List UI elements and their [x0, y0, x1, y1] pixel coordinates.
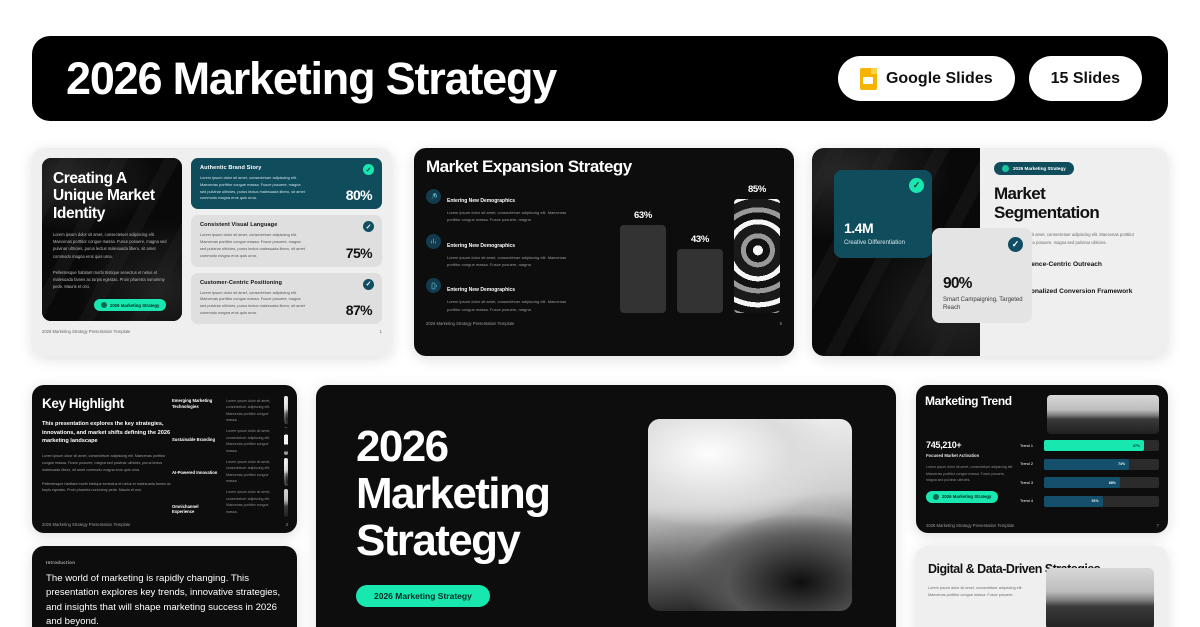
slide8-paragraph: Lorem ipsum dolor sit amet, consectetuer…: [928, 585, 1040, 599]
slide-card-marketing-trend[interactable]: Marketing Trend 745,210+ Focused Market …: [916, 385, 1168, 533]
slide7-kicker: Introduction: [46, 560, 283, 565]
slide2-feature-item: Entering New Demographics Lorem ipsum do…: [426, 234, 578, 268]
slide1-paragraph-1: Lorem ipsum dolor sit amet, consectetuer…: [53, 231, 171, 260]
row-body: Lorem ipsum dolor sit amet, consectetuer…: [200, 175, 307, 202]
check-icon: ✓: [363, 221, 374, 232]
row-title: Customer-Centric Positioning: [200, 280, 373, 286]
row-body: Lorem ipsum dolor sit amet, consectetuer…: [226, 428, 278, 454]
slide2-feature-list: Entering New Demographics Lorem ipsum do…: [426, 187, 578, 313]
trend-track: 87%: [1044, 440, 1159, 451]
slide6-badge: 2026 Marketing Strategy: [926, 491, 998, 503]
slide3-badge: 2026 Marketing Strategy: [994, 162, 1074, 175]
trend-label: Trend 3: [1020, 481, 1039, 485]
slide1-row: Authentic Brand Story Lorem ipsum dolor …: [191, 158, 382, 209]
row-body: Lorem ipsum dolor sit amet, consectetuer…: [226, 398, 278, 424]
wave-gradient-texture: [648, 419, 852, 611]
trend-row: Trend 1 87%: [1020, 440, 1159, 451]
page-number: 3: [286, 522, 288, 527]
trend-track: 74%: [1044, 459, 1159, 470]
footer-text: 2026 Marketing Strategy Presentation Tem…: [426, 321, 514, 326]
feature-title: Entering New Demographics: [447, 287, 515, 293]
row-title: Emerging Marketing Technologies: [172, 398, 220, 409]
slide7-text: The world of marketing is rapidly changi…: [46, 572, 283, 627]
row-title: Consistent Visual Language: [200, 222, 373, 228]
check-icon: ✓: [909, 178, 924, 193]
slide5-hero-image: [648, 419, 852, 611]
slide3-title: Market Segmentation: [994, 184, 1154, 222]
row-title: Authentic Brand Story: [200, 165, 373, 171]
thumbnail-image: [284, 427, 288, 455]
slide6-trend-chart: Trend 1 87% Trend 2 74% Trend 3 66%: [1020, 440, 1159, 514]
bar-value-label: 85%: [748, 184, 766, 195]
slide-card-introduction[interactable]: Introduction The world of marketing is r…: [32, 546, 297, 627]
bar-value-label: 63%: [634, 210, 652, 221]
trend-track: 51%: [1044, 496, 1159, 507]
google-slides-label: Google Slides: [886, 70, 993, 88]
trend-label: Trend 2: [1020, 462, 1039, 466]
check-icon: ✓: [363, 279, 374, 290]
slide3-badge-label: 2026 Marketing Strategy: [1013, 166, 1066, 171]
slide-count-button[interactable]: 15 Slides: [1029, 56, 1142, 101]
slide6-footer: 2026 Marketing Strategy Presentation Tem…: [926, 523, 1159, 528]
slide-count-label: 15 Slides: [1051, 70, 1120, 88]
check-icon: ✓: [363, 164, 374, 175]
badge-dot-icon: [933, 494, 939, 500]
slide-card-digital-data-driven-strategies[interactable]: Digital & Data-Driven Strategies Lorem i…: [916, 546, 1168, 627]
slide1-badge-label: 2026 Marketing Strategy: [110, 303, 159, 308]
mountain-photo-texture: [1046, 568, 1154, 627]
row-percent: 75%: [346, 245, 372, 261]
stat-label: Focused Market Activation: [926, 453, 1014, 458]
trend-row: Trend 4 51%: [1020, 496, 1159, 507]
trend-label: Trend 1: [1020, 444, 1039, 448]
slide3-stat-tile-gray: ✓ 90% Smart Campaigning, Targeted Reach: [932, 228, 1032, 323]
row-title: Sustainable Branding: [172, 437, 220, 443]
feature-body: Lorem ipsum dolor sit amet, consectetuer…: [447, 298, 578, 312]
list-text: Personalized Conversion Framework: [1017, 288, 1133, 297]
chart-bar-group: 63%: [620, 210, 666, 313]
slide-card-key-highlight[interactable]: Key Highlight This presentation explores…: [32, 385, 297, 533]
row-body: Lorem ipsum dolor sit amet, consectetuer…: [226, 459, 278, 485]
slide4-lead: This presentation explores the key strat…: [42, 420, 177, 446]
feature-body: Lorem ipsum dolor sit amet, consectetuer…: [447, 209, 578, 223]
rocket-icon: [426, 189, 441, 204]
row-body: Lorem ipsum dolor sit amet, consectetuer…: [200, 232, 307, 259]
slide4-body-column: Lorem ipsum dolor sit amet, consectetuer…: [226, 396, 278, 517]
slide4-footer: 2026 Marketing Strategy Presentation Tem…: [42, 522, 288, 527]
trend-fill: 51%: [1044, 496, 1103, 507]
page-number: 1: [380, 329, 382, 334]
chart-bar: [620, 225, 666, 313]
slide4-thumbnail-column: [284, 396, 288, 517]
thumbnail-image: [284, 489, 288, 517]
footer-text: 2026 Marketing Strategy Presentation Tem…: [926, 523, 1014, 528]
feature-title: Entering New Demographics: [447, 243, 515, 249]
slide2-feature-item: Entering New Demographics Lorem ipsum do…: [426, 278, 578, 312]
footer-text: 2026 Marketing Strategy Presentation Tem…: [42, 329, 130, 334]
slide-card-creating-unique-market-identity[interactable]: Creating A Unique Market Identity Lorem …: [32, 148, 392, 356]
slide1-badge: 2026 Marketing Strategy: [94, 299, 166, 311]
mountain-photo-texture: [1047, 395, 1159, 434]
row-body: Lorem ipsum dolor sit amet, consectetuer…: [226, 489, 278, 515]
row-title: AI-Powered Innovation: [172, 470, 220, 476]
stat-label: Creative Differentiation: [844, 239, 932, 248]
bar-value-label: 43%: [691, 234, 709, 245]
badge-dot-icon: [1002, 165, 1009, 172]
slide-card-2026-marketing-strategy-hero[interactable]: 2026 Marketing Strategy 2026 Marketing S…: [316, 385, 896, 627]
slide1-row: Customer-Centric Positioning Lorem ipsum…: [191, 273, 382, 324]
slide6-paragraph: Lorem ipsum dolor sit amet, consectetuer…: [926, 464, 1014, 484]
check-icon: ✓: [1008, 237, 1023, 252]
google-slides-button[interactable]: Google Slides: [838, 56, 1015, 101]
slide5-badge: 2026 Marketing Strategy: [356, 585, 490, 607]
slide4-title-column: Emerging Marketing Technologies Sustaina…: [172, 396, 220, 517]
slide2-title: Market Expansion Strategy: [426, 158, 782, 177]
row-body: Lorem ipsum dolor sit amet, consectetuer…: [200, 290, 307, 317]
google-slides-icon: [860, 68, 877, 90]
chart-bar: [734, 199, 780, 313]
trend-track: 66%: [1044, 477, 1159, 488]
row-title: Omnichannel Experience: [172, 504, 220, 515]
thumbnail-image: [284, 458, 288, 486]
marble-texture: [734, 199, 780, 313]
footer-text: 2026 Marketing Strategy Presentation Tem…: [42, 522, 130, 527]
badge-dot-icon: [101, 302, 107, 308]
page-number: 5: [780, 321, 782, 326]
slide-template-gallery: 2026 Marketing Strategy Google Slides 15…: [0, 0, 1200, 627]
slide6-stat-block: 745,210+ Focused Market Activation Lorem…: [926, 440, 1014, 505]
chart-bar-group: 85%: [734, 184, 780, 313]
trend-label: Trend 4: [1020, 499, 1039, 503]
slide2-bar-chart: 63% 43% 85%: [578, 187, 782, 313]
trend-row: Trend 3 66%: [1020, 477, 1159, 488]
chart-bar: [677, 249, 723, 313]
slide1-footer: 2026 Marketing Strategy Presentation Tem…: [42, 329, 382, 334]
page-header: 2026 Marketing Strategy Google Slides 15…: [32, 36, 1168, 121]
slide8-image: [1046, 568, 1154, 627]
feature-body: Lorem ipsum dolor sit amet, consectetuer…: [447, 254, 578, 268]
page-title: 2026 Marketing Strategy: [66, 53, 838, 105]
trend-row: Trend 2 74%: [1020, 459, 1159, 470]
thumbnail-image: [284, 396, 288, 424]
mobile-icon: [426, 278, 441, 293]
stat-label: Smart Campaigning, Targeted Reach: [943, 296, 1032, 313]
slide2-footer: 2026 Marketing Strategy Presentation Tem…: [426, 321, 782, 326]
stat-value: 745,210+: [926, 440, 1014, 450]
slide6-badge-label: 2026 Marketing Strategy: [942, 494, 991, 499]
slide6-image: [1047, 395, 1159, 434]
slide1-paragraph-2: Pellentesque habitant morbi tristique se…: [53, 269, 171, 290]
trend-fill: 74%: [1044, 459, 1129, 470]
slide-card-market-expansion-strategy[interactable]: Market Expansion Strategy Entering New D…: [414, 148, 794, 356]
slide5-badge-label: 2026 Marketing Strategy: [374, 591, 472, 601]
bar-chart-icon: [426, 234, 441, 249]
slide1-row: Consistent Visual Language Lorem ipsum d…: [191, 215, 382, 266]
trend-fill: 66%: [1044, 477, 1120, 488]
page-number: 7: [1157, 523, 1159, 528]
row-percent: 87%: [346, 302, 372, 318]
slide4-columns: Emerging Marketing Technologies Sustaina…: [172, 396, 288, 517]
slide-card-market-segmentation[interactable]: ✓ 1.4M Creative Differentiation ✓ 90% Sm…: [812, 148, 1168, 356]
stat-value: 90%: [943, 275, 1032, 293]
trend-fill: 87%: [1044, 440, 1144, 451]
slide3-stat-tile-teal: ✓ 1.4M Creative Differentiation: [834, 170, 932, 258]
slide1-rows: Authentic Brand Story Lorem ipsum dolor …: [191, 158, 382, 321]
stat-value: 1.4M: [844, 220, 932, 236]
slide4-paragraph-1: Lorem ipsum dolor sit amet, consectetuer…: [42, 453, 177, 474]
row-percent: 80%: [346, 187, 372, 203]
slide4-paragraph-2: Pellentesque habitant morbi tristique se…: [42, 481, 177, 495]
slide1-title: Creating A Unique Market Identity: [53, 170, 171, 222]
feature-title: Entering New Demographics: [447, 198, 515, 204]
chart-bar-group: 43%: [677, 234, 723, 313]
slide2-feature-item: Entering New Demographics Lorem ipsum do…: [426, 189, 578, 223]
slide1-hero-panel: Creating A Unique Market Identity Lorem …: [42, 158, 182, 321]
